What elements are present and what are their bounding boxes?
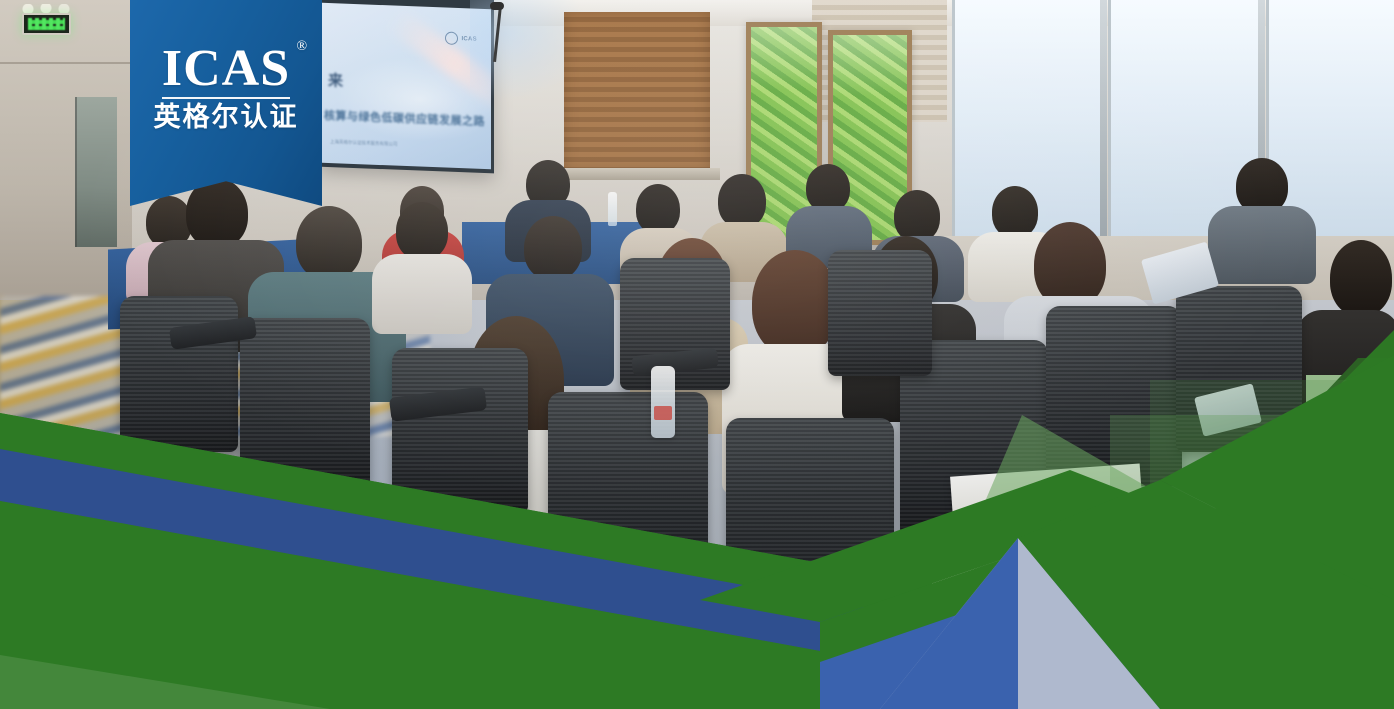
banner-root: ICAS 来 核算与绿色低碳供应链发展之路 上海英格尔认证技术服务有限公司 (0, 0, 1394, 709)
decorative-graphic-bands (0, 0, 1394, 709)
